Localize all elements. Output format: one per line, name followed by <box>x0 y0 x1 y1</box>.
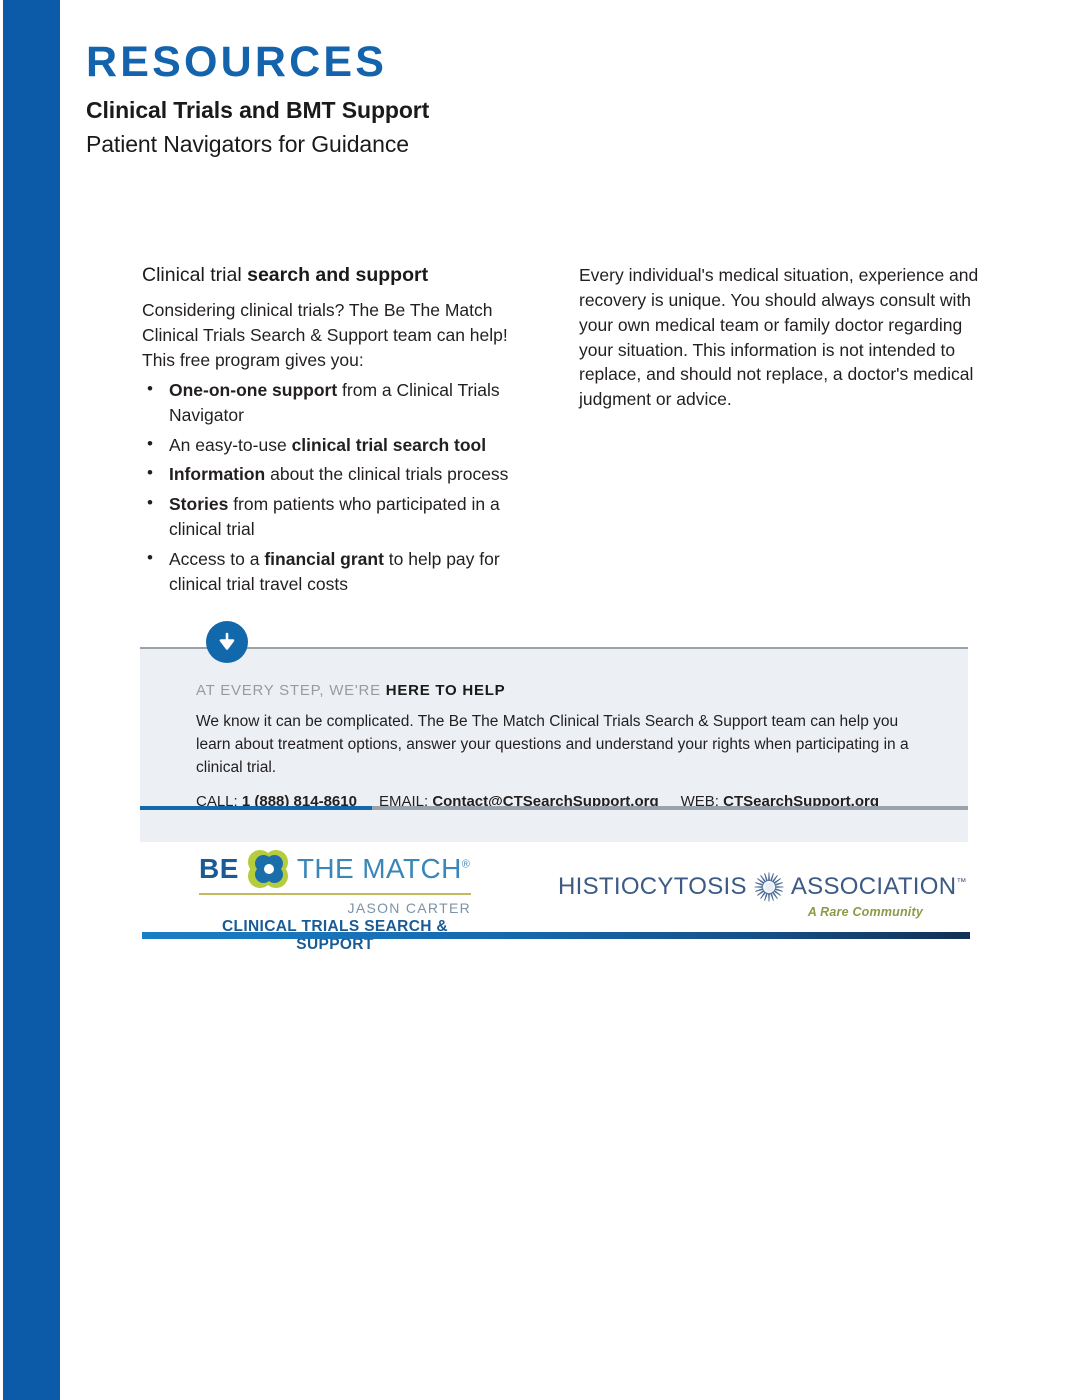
section-heading: Clinical trial search and support <box>142 263 522 287</box>
page-subtitle-primary: Clinical Trials and BMT Support <box>86 97 986 124</box>
down-arrow-icon <box>206 621 248 663</box>
footer-gradient-bar <box>142 932 970 939</box>
logo-row: BE THE MATCH® JASON CARTER CLINICAL TRIA… <box>142 849 970 935</box>
main-content: Clinical trial search and support Consid… <box>142 263 982 597</box>
callout-content: AT EVERY STEP, WE'RE HERE TO HELP We kno… <box>140 649 968 810</box>
list-item-bold: clinical trial search tool <box>292 435 487 455</box>
page-accent-spine <box>3 0 60 1400</box>
list-item-text: about the clinical trials process <box>265 464 508 484</box>
section-heading-bold: search and support <box>247 264 428 286</box>
callout-eyebrow-light: AT EVERY STEP, WE'RE <box>196 682 386 699</box>
list-item-bold: One-on-one support <box>169 380 337 400</box>
left-column: Clinical trial search and support Consid… <box>142 263 522 597</box>
page-subtitle-secondary: Patient Navigators for Guidance <box>86 131 986 158</box>
trademark-icon: ™ <box>956 877 966 888</box>
list-item: An easy-to-use clinical trial search too… <box>142 433 522 458</box>
list-item-bold: financial grant <box>264 549 384 569</box>
intro-paragraph: Considering clinical trials? The Be The … <box>142 298 522 373</box>
program-person-name: JASON CARTER <box>199 900 471 916</box>
association-text: ASSOCIATION™ <box>791 873 967 901</box>
list-item: Access to a financial grant to help pay … <box>142 547 522 597</box>
page-header: RESOURCES Clinical Trials and BMT Suppor… <box>86 40 986 158</box>
section-heading-regular: Clinical trial <box>142 264 247 286</box>
four-petal-flower-icon <box>248 850 290 888</box>
list-item-text: Access to a <box>169 549 264 569</box>
callout-eyebrow: AT EVERY STEP, WE'RE HERE TO HELP <box>196 682 928 699</box>
histiocytosis-wordmark: HISTIOCYTOSIS <box>558 870 923 904</box>
callout-eyebrow-bold: HERE TO HELP <box>386 682 506 699</box>
right-column: Every individual's medical situation, ex… <box>579 263 979 412</box>
list-item-bold: Stories <box>169 494 228 514</box>
help-callout-panel: AT EVERY STEP, WE'RE HERE TO HELP We kno… <box>140 647 968 842</box>
be-the-match-wordmark: BE THE MATCH® <box>199 849 471 889</box>
be-the-match-be-text: BE <box>199 853 239 885</box>
association-label: ASSOCIATION <box>791 873 957 900</box>
list-item-bold: Information <box>169 464 265 484</box>
list-item: One-on-one support from a Clinical Trial… <box>142 378 522 428</box>
histiocytosis-tagline: A Rare Community <box>558 905 923 919</box>
sunburst-icon <box>749 870 789 904</box>
logo-divider-rule <box>199 893 471 895</box>
registered-trademark-icon: ® <box>462 859 471 871</box>
callout-bottom-rule <box>140 806 968 810</box>
be-the-match-match-label: THE MATCH <box>297 853 462 884</box>
histiocytosis-association-logo: HISTIOCYTOSIS <box>558 870 923 919</box>
page-title: RESOURCES <box>86 40 986 85</box>
callout-body-text: We know it can be complicated. The Be Th… <box>196 711 936 779</box>
list-item: Information about the clinical trials pr… <box>142 462 522 487</box>
be-the-match-match-text: THE MATCH® <box>297 853 470 885</box>
disclaimer-paragraph: Every individual's medical situation, ex… <box>579 263 979 412</box>
feature-list: One-on-one support from a Clinical Trial… <box>142 378 522 597</box>
histiocytosis-text: HISTIOCYTOSIS <box>558 873 747 901</box>
list-item-text: An easy-to-use <box>169 435 292 455</box>
callout-bottom-rule-accent <box>140 806 372 810</box>
list-item: Stories from patients who participated i… <box>142 492 522 542</box>
